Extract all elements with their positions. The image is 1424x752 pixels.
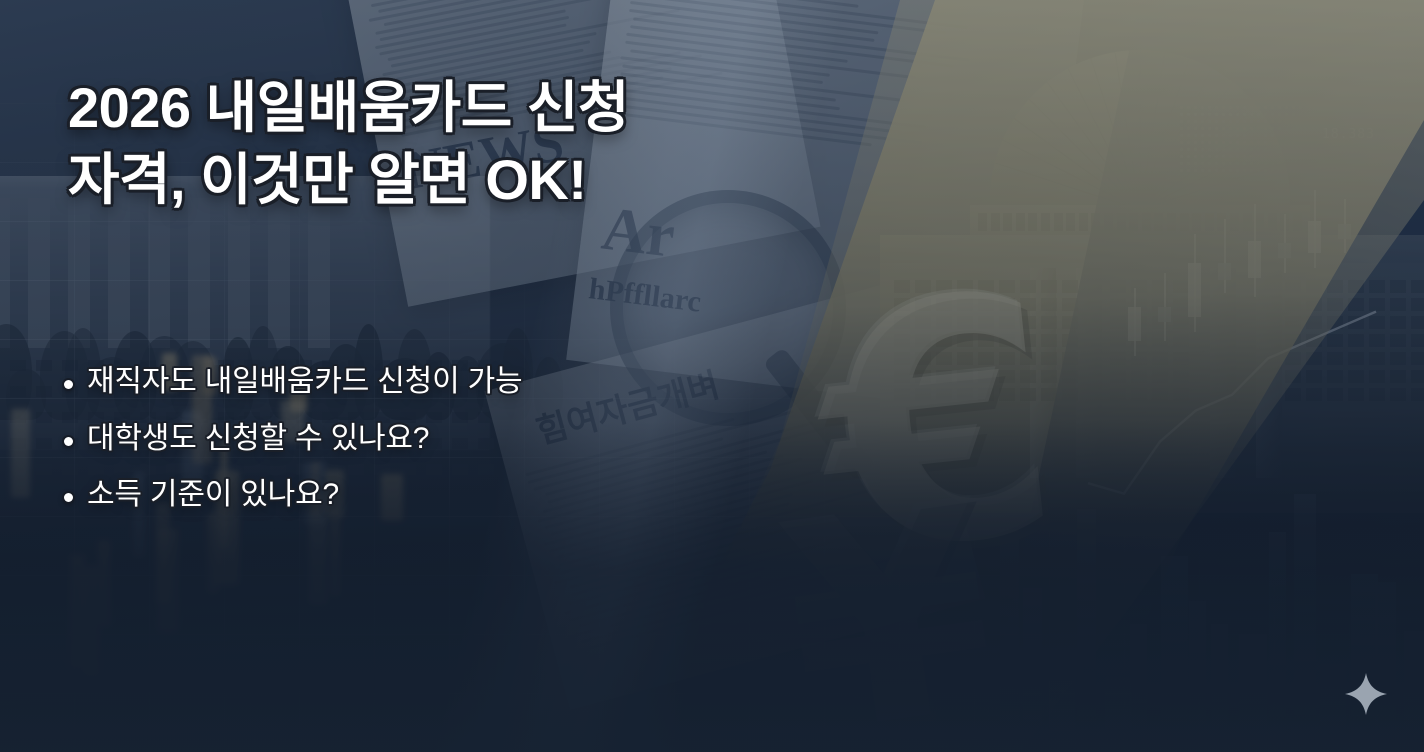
page-title-line-1: 2026 내일배움카드 신청 [68,72,888,144]
page-title: 2026 내일배움카드 신청 자격, 이것만 알면 OK! [68,72,888,216]
sparkle-icon [1344,672,1388,716]
bullet-list: 재직자도 내일배움카드 신청이 가능대학생도 신청할 수 있나요?소득 기준이 … [64,362,844,532]
promo-banner: NEWS Ar hPffllarc 힘여자금개벼 18.383 € ¥ [0,0,1424,752]
list-item: 소득 기준이 있나요? [64,475,844,516]
list-item-label: 재직자도 내일배움카드 신청이 가능 [87,362,522,403]
bullet-dot-icon [64,437,73,446]
content-layer: 2026 내일배움카드 신청 자격, 이것만 알면 OK! 재직자도 내일배움카… [0,0,1424,752]
list-item: 대학생도 신청할 수 있나요? [64,419,844,460]
list-item-label: 대학생도 신청할 수 있나요? [87,419,429,460]
page-title-line-2: 자격, 이것만 알면 OK! [68,144,888,216]
bullet-dot-icon [64,380,73,389]
list-item: 재직자도 내일배움카드 신청이 가능 [64,362,844,403]
list-item-label: 소득 기준이 있나요? [87,475,339,516]
bullet-dot-icon [64,493,73,502]
